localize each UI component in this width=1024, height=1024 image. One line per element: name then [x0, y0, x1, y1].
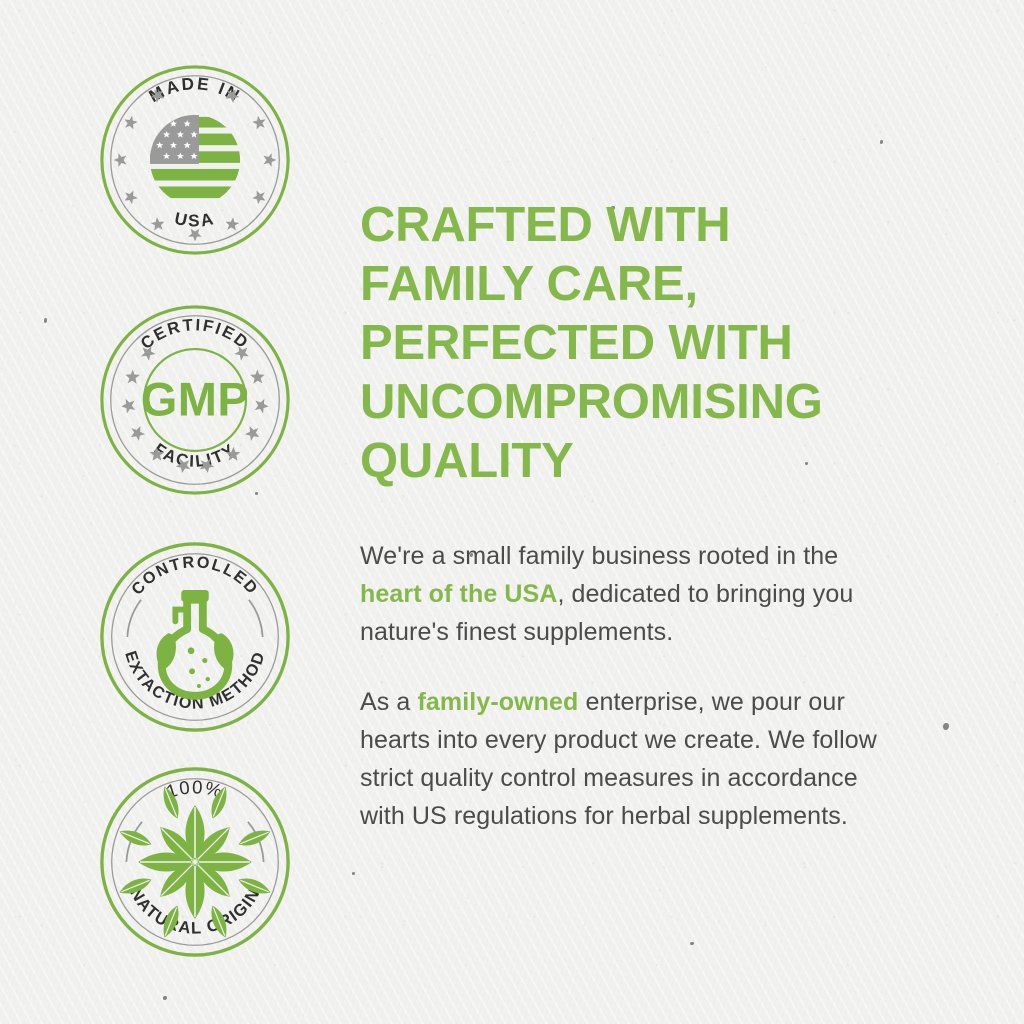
p2-highlight-family-owned: family-owned	[417, 688, 578, 716]
p1-highlight-heart-of-the-usa: heart of the USA	[360, 580, 557, 608]
gmp-wordmark: GMP	[141, 373, 250, 426]
certification-badge-column: MADE IN USA	[0, 0, 340, 1024]
leaf-rosette-icon	[117, 784, 272, 939]
usa-flag-circle-icon	[150, 113, 240, 204]
p1-seg-1: We're a small family business rooted in …	[360, 542, 838, 570]
infographic-canvas: MADE IN USA	[0, 0, 1024, 1024]
badge-made-in-usa: MADE IN USA	[97, 62, 293, 258]
paragraph-2: As a family-owned enterprise, we pour ou…	[360, 683, 880, 835]
body-copy: We're a small family business rooted in …	[360, 537, 880, 835]
badge-natural-origin: 100% NATURAL ORIGIN	[97, 764, 293, 960]
badge-bottom-text: EXTACTION METHOD	[121, 649, 269, 713]
badge-right-arc	[249, 600, 263, 637]
flask-with-leaves-icon	[157, 590, 234, 696]
badge-top-text: CERTIFIED	[137, 315, 253, 353]
p2-seg-1: As a	[360, 688, 417, 716]
badge-bottom-text: FACILITY	[150, 439, 239, 471]
page-title: CRAFTED WITH FAMILY CARE, PERFECTED WITH…	[360, 196, 916, 491]
badge-bottom-text: USA	[173, 208, 217, 231]
badge-left-arc	[127, 600, 141, 637]
paragraph-1: We're a small family business rooted in …	[360, 537, 880, 651]
badge-gmp-facility: CERTIFIED FACILITY	[97, 302, 293, 498]
badge-controlled-extraction-method: CONTROLLED EXTACTION METHOD	[97, 539, 293, 735]
text-content-panel: CRAFTED WITH FAMILY CARE, PERFECTED WITH…	[360, 196, 920, 835]
badge-top-text: MADE IN	[145, 73, 244, 106]
